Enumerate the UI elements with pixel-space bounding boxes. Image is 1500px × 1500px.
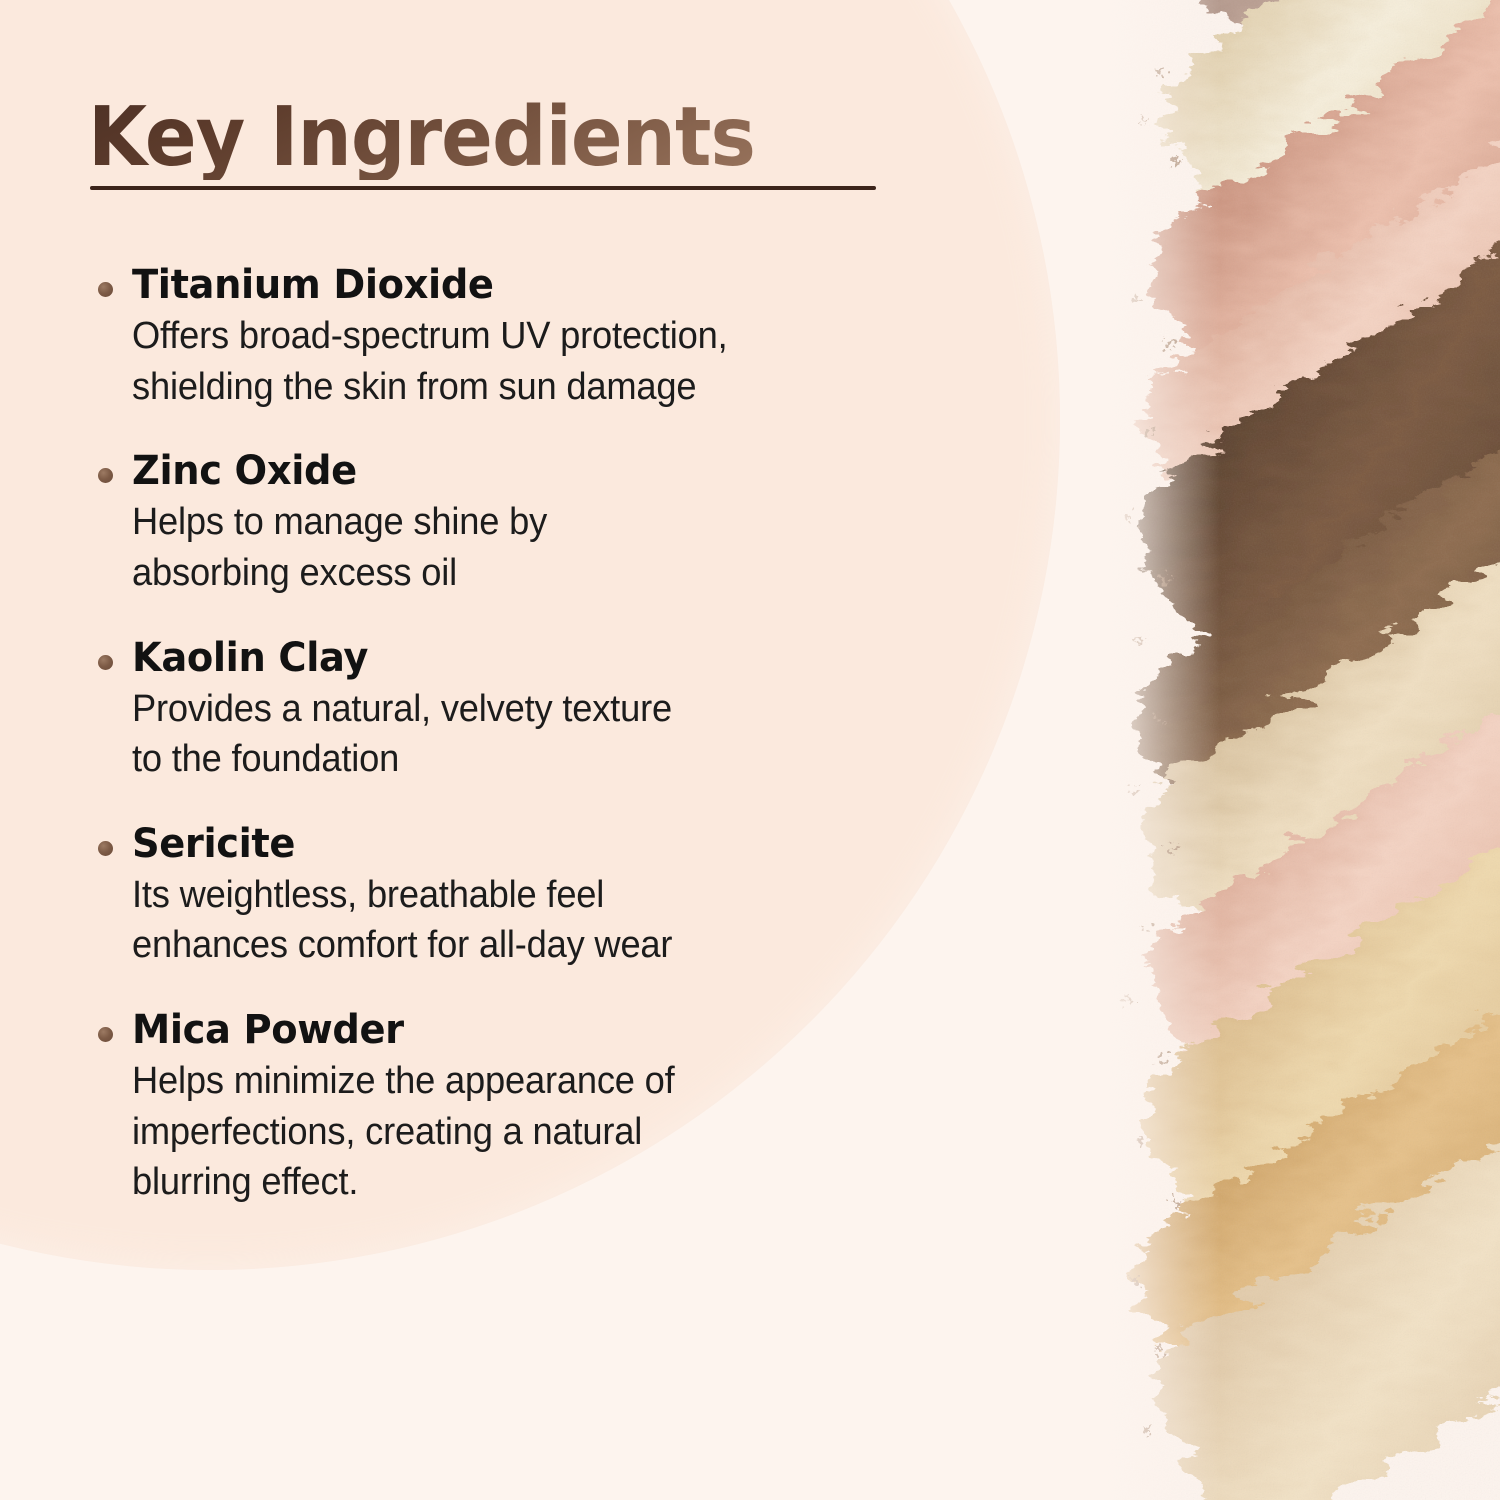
ingredient-item: Titanium Dioxide Offers broad-spectrum U… — [88, 262, 1008, 412]
description-line: to the foundation — [132, 734, 969, 785]
powder-swatch-image — [1100, 0, 1500, 1500]
bullet-dot-icon — [98, 282, 113, 297]
description-line: Helps minimize the appearance of — [132, 1056, 969, 1107]
ingredient-description: Offers broad-spectrum UV protection, shi… — [132, 311, 969, 412]
ingredient-name: Mica Powder — [132, 1007, 973, 1054]
bullet-dot-icon — [98, 1027, 113, 1042]
title-underline — [90, 186, 876, 190]
ingredient-name: Kaolin Clay — [132, 635, 973, 682]
ingredient-description: Helps to manage shine by absorbing exces… — [132, 497, 969, 598]
ingredient-item: Zinc Oxide Helps to manage shine by abso… — [88, 448, 1008, 598]
description-line: absorbing excess oil — [132, 548, 969, 599]
description-line: Helps to manage shine by — [132, 497, 969, 548]
description-line: blurring effect. — [132, 1157, 969, 1208]
ingredient-item: Sericite Its weightless, breathable feel… — [88, 821, 1008, 971]
bullet-dot-icon — [98, 468, 113, 483]
description-line: imperfections, creating a natural — [132, 1107, 969, 1158]
ingredient-name: Sericite — [132, 821, 973, 868]
ingredient-name: Titanium Dioxide — [132, 262, 973, 309]
page-title-wrap: Key Ingredients — [88, 96, 888, 180]
key-ingredients-infographic: Key Ingredients Titanium Dioxide Offers … — [0, 0, 1500, 1500]
description-line: Offers broad-spectrum UV protection, — [132, 311, 969, 362]
ingredient-name: Zinc Oxide — [132, 448, 973, 495]
bullet-dot-icon — [98, 841, 113, 856]
ingredient-description: Its weightless, breathable feel enhances… — [132, 870, 969, 971]
ingredient-item: Kaolin Clay Provides a natural, velvety … — [88, 635, 1008, 785]
ingredients-list: Titanium Dioxide Offers broad-spectrum U… — [88, 262, 1008, 1208]
ingredient-description: Provides a natural, velvety texture to t… — [132, 684, 969, 785]
description-line: enhances comfort for all-day wear — [132, 920, 969, 971]
description-line: shielding the skin from sun damage — [132, 362, 969, 413]
powder-swatch-svg — [1100, 0, 1500, 1500]
ingredient-description: Helps minimize the appearance of imperfe… — [132, 1056, 969, 1208]
description-line: Its weightless, breathable feel — [132, 870, 969, 921]
content-column: Key Ingredients Titanium Dioxide Offers … — [88, 0, 1068, 1500]
bullet-dot-icon — [98, 655, 113, 670]
description-line: Provides a natural, velvety texture — [132, 684, 969, 735]
ingredient-item: Mica Powder Helps minimize the appearanc… — [88, 1007, 1008, 1208]
page-title: Key Ingredients — [88, 96, 832, 180]
